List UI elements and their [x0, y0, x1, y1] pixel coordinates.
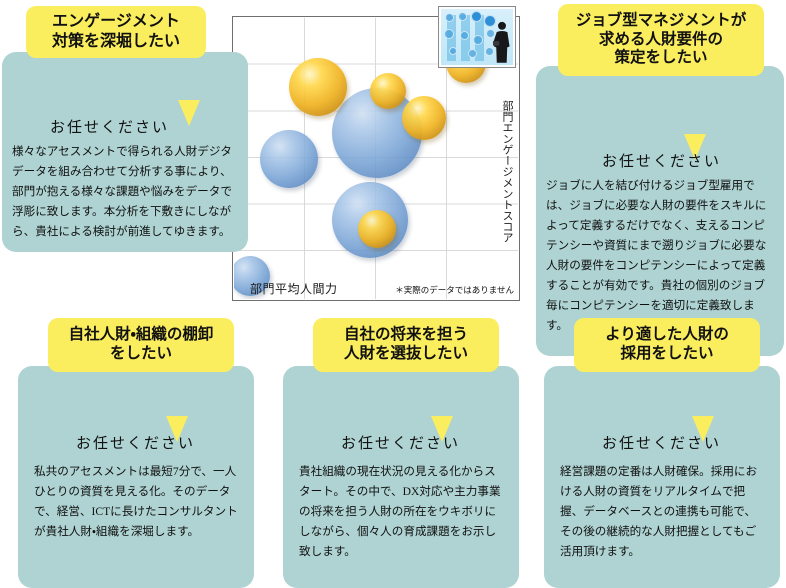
chart-bubble-gold [358, 210, 396, 248]
presenter-thumbnail-image [438, 6, 516, 68]
chart-disclaimer-note: ＊実際のデータではありません [395, 284, 514, 296]
thumb-network-node [471, 11, 482, 22]
chart-bubble-gold [370, 73, 406, 109]
card-body-text: 貴社組織の現在状況の見える化からスタート。その中で、DX対応や主力事業の将来を担… [299, 462, 505, 562]
presenter-silhouette-icon [493, 20, 511, 64]
thumb-network-node [473, 35, 483, 45]
card-omakase-label: お任せください [76, 432, 195, 453]
card-title-bubble[interactable]: ジョブ型マネジメントが 求める人財要件の 策定をしたい [558, 4, 764, 76]
card-omakase-label: お任せください [602, 432, 721, 453]
thumb-network-node [458, 12, 467, 21]
card-omakase-label: お任せください [602, 150, 721, 171]
speech-bubble-tail [178, 100, 200, 126]
thumb-network-node [445, 13, 454, 22]
card-omakase-label: お任せください [341, 432, 460, 453]
chart-bubble-blue [260, 130, 318, 188]
thumb-network-node [444, 29, 454, 39]
card-body-text: 様々なアセスメントで得られる人財デジタデータを組み合わせて分析する事により、部門… [12, 142, 240, 242]
thumb-network-node [449, 47, 457, 55]
chart-bubble-gold [289, 58, 347, 116]
card-body-text: 私共のアセスメントは最短7分で、一人ひとりの資質を見える化。そのデータで、経営、… [34, 462, 240, 542]
card-omakase-label: お任せください [50, 116, 169, 137]
thumb-network-node [468, 49, 477, 58]
chart-y-axis-label: 部門エンゲージメントスコア [499, 100, 515, 243]
chart-x-axis-label: 部門平均人間力 [250, 280, 338, 297]
card-body-text: ジョブに人を結び付けるジョブ型雇用では、ジョブに必要な人財の要件をスキルによって… [546, 176, 776, 336]
card-title-bubble[interactable]: 自社人財・組織の棚卸 をしたい [48, 318, 234, 372]
card-body-text: 経営課題の定番は人財確保。採用における人財の資質をリアルタイムで把握、データベー… [560, 462, 766, 562]
card-title-bubble[interactable]: 自社の将来を担う 人財を選抜したい [313, 318, 499, 372]
thumbnail-artwork [441, 9, 513, 65]
poster-canvas: 部門平均人間力 ＊実際のデータではありません 部門エンゲージメントスコア [0, 0, 786, 552]
thumb-network-node [460, 31, 469, 40]
card-title-bubble[interactable]: エンゲージメント 対策を深堀したい [26, 6, 206, 58]
chart-bubble-gold [402, 96, 446, 140]
